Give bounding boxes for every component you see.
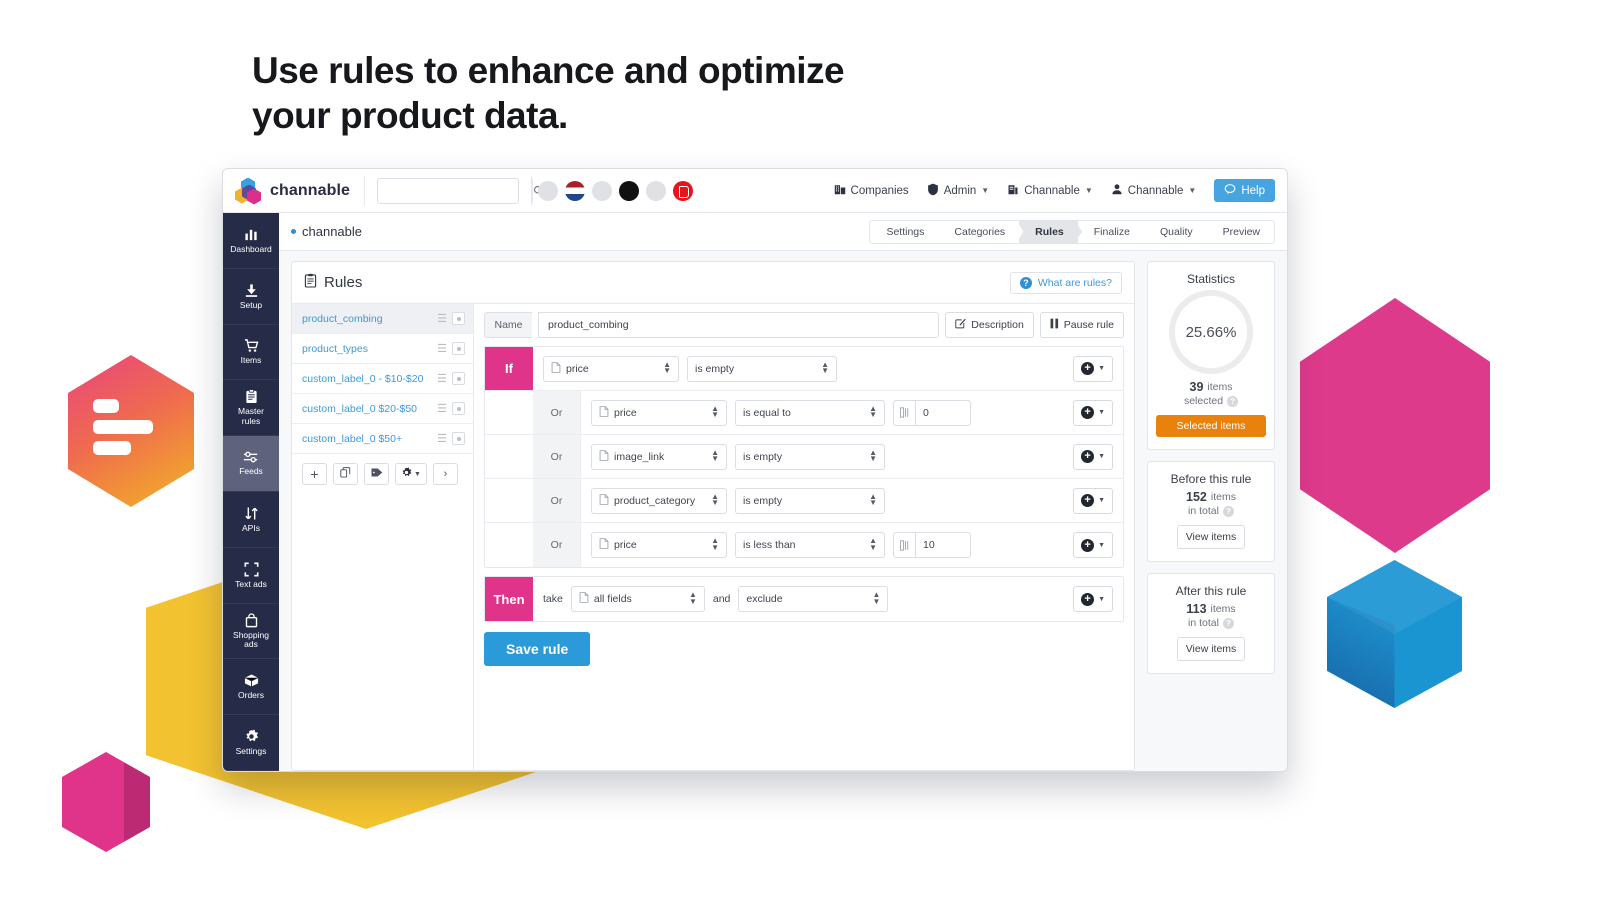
plus-circle-icon: + xyxy=(1081,450,1094,463)
top-navigation-bar: channable Companies xyxy=(223,169,1287,213)
select-arrows-icon: ▲▼ xyxy=(869,450,877,464)
save-rule-button[interactable]: Save rule xyxy=(484,632,590,666)
condition-field-value: price xyxy=(566,363,589,375)
before-rule-total-line: in total ? xyxy=(1156,505,1266,517)
select-arrows-icon: ▲▼ xyxy=(711,538,719,552)
condition-row-or: Or product_category ▲▼ xyxy=(485,479,1123,523)
copy-icon xyxy=(340,467,351,481)
chevron-down-icon: ▼ xyxy=(1098,365,1105,372)
condition-value-input[interactable] xyxy=(915,532,971,558)
feed-name: channable xyxy=(291,224,362,239)
help-tooltip-icon[interactable]: ? xyxy=(1223,506,1234,517)
condition-value-group xyxy=(893,532,971,558)
condition-operator-select[interactable]: is empty ▲▼ xyxy=(735,444,885,470)
after-rule-count: 113 xyxy=(1186,602,1206,616)
global-search[interactable] xyxy=(377,178,519,204)
document-icon xyxy=(579,592,589,606)
step-rules-label: Rules xyxy=(1035,226,1064,238)
selected-word: selected xyxy=(1184,395,1223,407)
rule-name-label: product_types xyxy=(302,343,437,355)
box-icon xyxy=(244,673,259,688)
if-tag: If xyxy=(485,347,533,390)
menu-company-label: Channable xyxy=(1024,185,1080,197)
step-rules[interactable]: Rules xyxy=(1019,221,1078,243)
headline-line-1: Use rules to enhance and optimize xyxy=(252,48,844,93)
page-title: Rules xyxy=(304,273,362,292)
document-icon xyxy=(599,494,609,508)
tag-rule-button[interactable] xyxy=(364,463,389,485)
edit-square-icon xyxy=(955,318,966,332)
condition-operator-select[interactable]: is empty ▲▼ xyxy=(687,356,837,382)
condition-value-group xyxy=(893,400,971,426)
chevron-down-icon: ▼ xyxy=(1098,409,1105,416)
chevron-down-icon: ▼ xyxy=(1085,186,1093,195)
plus-circle-icon: + xyxy=(1081,494,1094,507)
condition-operator-value: is equal to xyxy=(743,407,791,419)
status-dot-grey-2[interactable] xyxy=(592,181,612,201)
description-label: Description xyxy=(971,319,1024,331)
before-view-items-button[interactable]: View items xyxy=(1177,525,1246,549)
chevron-down-icon: ▼ xyxy=(1098,453,1105,460)
arrows-updown-icon xyxy=(244,506,259,521)
selected-word-line: selected ? xyxy=(1156,395,1266,407)
then-action-select[interactable]: exclude ▲▼ xyxy=(738,586,888,612)
document-icon xyxy=(599,538,609,552)
sidebar-item-shopping-ads-label: Shopping ads xyxy=(233,631,269,650)
sidebar-item-feeds[interactable]: Feeds xyxy=(223,436,279,492)
after-rule-total-line: in total ? xyxy=(1156,617,1266,629)
menu-companies-label: Companies xyxy=(851,185,909,197)
list-item[interactable]: custom_label_0 - $10-$20 ☰ xyxy=(292,364,473,394)
then-field-select[interactable]: all fields ▲▼ xyxy=(571,586,705,612)
condition-field-select[interactable]: price ▲▼ xyxy=(591,400,727,426)
conditions-block: If price ▲▼ xyxy=(484,346,1124,568)
chevron-down-icon: ▼ xyxy=(1098,542,1105,549)
step-finalize[interactable]: Finalize xyxy=(1078,221,1144,243)
items-word: items xyxy=(1211,491,1236,503)
condition-row-or: Or image_link ▲▼ xyxy=(485,435,1123,479)
tag-icon xyxy=(371,467,383,481)
take-word: take xyxy=(543,593,563,605)
list-item[interactable]: custom_label_0 $20-$50 ☰ xyxy=(292,394,473,424)
selection-donut-chart: 25.66% xyxy=(1169,290,1253,374)
sidebar-item-settings[interactable]: Settings xyxy=(223,715,279,771)
status-dot-grey-3[interactable] xyxy=(646,181,666,201)
step-preview-label: Preview xyxy=(1223,226,1260,238)
value-type-icon[interactable] xyxy=(893,400,915,426)
after-rule-card: After this rule 113 items in total ? Vie… xyxy=(1147,573,1275,674)
clipboard-icon xyxy=(245,389,258,404)
selected-count: 39 xyxy=(1190,380,1204,394)
help-tooltip-icon[interactable]: ? xyxy=(1223,618,1234,629)
status-dot-icon xyxy=(291,229,296,234)
selected-items-button[interactable]: Selected items xyxy=(1156,415,1266,437)
condition-value-input[interactable] xyxy=(915,400,971,426)
rule-name-label: custom_label_0 $50+ xyxy=(302,433,437,445)
select-arrows-icon: ▲▼ xyxy=(872,592,880,606)
download-icon xyxy=(244,283,259,298)
left-sidebar: Dashboard Setup Items Master rules xyxy=(223,213,279,771)
step-settings[interactable]: Settings xyxy=(870,221,938,243)
rule-editor: Name Description xyxy=(474,304,1134,770)
step-quality-label: Quality xyxy=(1160,226,1193,238)
step-categories[interactable]: Categories xyxy=(938,221,1019,243)
document-icon xyxy=(599,406,609,420)
items-word: items xyxy=(1211,603,1236,615)
or-tag: Or xyxy=(533,391,581,434)
wizard-steps: Settings Categories Rules Finalize Quali… xyxy=(869,220,1275,244)
menu-user-channable[interactable]: Channable ▼ xyxy=(1111,183,1197,198)
status-dot-grey-1[interactable] xyxy=(538,181,558,201)
question-mark-icon: ? xyxy=(1020,277,1032,289)
rule-name-label: product_combing xyxy=(302,313,437,325)
sidebar-item-orders[interactable]: Orders xyxy=(223,659,279,715)
decorative-hexagon-logo-badge xyxy=(68,355,194,507)
content-area: Rules ? What are rules? product_combing xyxy=(279,251,1287,771)
divider xyxy=(364,176,365,206)
plus-icon: + xyxy=(310,467,318,481)
add-condition-button[interactable]: + ▼ xyxy=(1073,356,1113,382)
select-arrows-icon: ▲▼ xyxy=(689,592,697,606)
list-item[interactable]: product_combing ☰ xyxy=(292,304,473,334)
condition-operator-value: is empty xyxy=(695,363,734,375)
statistics-card: Statistics 25.66% 39 items selected ? Se xyxy=(1147,261,1275,450)
channable-logo-icon xyxy=(235,178,261,204)
select-arrows-icon: ▲▼ xyxy=(711,450,719,464)
rule-status-toggle[interactable] xyxy=(452,312,465,325)
document-icon xyxy=(551,362,561,376)
pause-rule-button[interactable]: Pause rule xyxy=(1040,312,1124,338)
selected-count-line: 39 items xyxy=(1156,380,1266,394)
condition-row-if: If price ▲▼ xyxy=(485,347,1123,391)
page-headline: Use rules to enhance and optimize your p… xyxy=(252,48,844,138)
menu-companies[interactable]: Companies xyxy=(834,183,909,198)
menu-company-channable[interactable]: Channable ▼ xyxy=(1007,183,1093,198)
sidebar-item-setup[interactable]: Setup xyxy=(223,269,279,325)
decorative-hexagon-pink-large xyxy=(1300,298,1490,553)
name-label: Name xyxy=(484,312,532,338)
then-tag: Then xyxy=(485,577,533,621)
condition-field-select[interactable]: price ▲▼ xyxy=(543,356,679,382)
drag-handle-icon[interactable]: ☰ xyxy=(437,432,446,445)
clipboard-icon xyxy=(304,273,317,292)
rule-status-toggle[interactable] xyxy=(452,402,465,415)
building-icon xyxy=(834,183,846,198)
step-preview[interactable]: Preview xyxy=(1207,221,1274,243)
sidebar-item-orders-label: Orders xyxy=(238,691,264,700)
rules-card: Rules ? What are rules? product_combing xyxy=(291,261,1135,771)
menu-admin-label: Admin xyxy=(944,185,977,197)
menu-user-label: Channable xyxy=(1128,185,1184,197)
search-input[interactable] xyxy=(378,185,532,197)
decorative-bars xyxy=(93,399,153,462)
sidebar-item-settings-label: Settings xyxy=(236,747,267,756)
condition-operator-value: is less than xyxy=(743,539,796,551)
feed-name-label: channable xyxy=(302,224,362,239)
gear-icon xyxy=(401,467,412,481)
divider xyxy=(531,176,532,206)
before-rule-title: Before this rule xyxy=(1156,472,1266,486)
condition-operator-value: is empty xyxy=(743,495,782,507)
sidebar-item-items-label: Items xyxy=(241,356,262,365)
sidebar-item-feeds-label: Feeds xyxy=(239,467,263,476)
then-block: Then take all fields ▲▼ xyxy=(484,576,1124,622)
or-tag: Or xyxy=(533,523,581,567)
plus-circle-icon: + xyxy=(1081,406,1094,419)
help-tooltip-icon[interactable]: ? xyxy=(1227,396,1238,407)
drag-handle-icon[interactable]: ☰ xyxy=(437,312,446,325)
sidebar-item-text-ads-label: Text ads xyxy=(235,580,267,589)
sidebar-item-master-rules[interactable]: Master rules xyxy=(223,380,279,436)
rule-name-label: custom_label_0 $20-$50 xyxy=(302,403,437,415)
and-word: and xyxy=(713,593,731,605)
drag-handle-icon[interactable]: ☰ xyxy=(437,342,446,355)
rule-status-toggle[interactable] xyxy=(452,432,465,445)
condition-operator-value: is empty xyxy=(743,451,782,463)
status-dot-red[interactable] xyxy=(673,181,693,201)
or-tag: Or xyxy=(533,479,581,522)
in-total-word: in total xyxy=(1188,617,1219,629)
description-button[interactable]: Description xyxy=(945,312,1034,338)
after-rule-count-line: 113 items xyxy=(1156,602,1266,616)
after-rule-title: After this rule xyxy=(1156,584,1266,598)
statistics-column: Statistics 25.66% 39 items selected ? Se xyxy=(1147,261,1275,771)
gear-icon xyxy=(244,729,259,744)
pause-rule-label: Pause rule xyxy=(1064,319,1114,331)
brand-name: channable xyxy=(270,182,350,200)
select-arrows-icon: ▲▼ xyxy=(869,494,877,508)
main-content: channable Settings Categories Rules Fina… xyxy=(279,213,1287,771)
rule-settings-button[interactable]: ▼ xyxy=(395,463,427,485)
sidebar-item-apis[interactable]: APIs xyxy=(223,492,279,548)
or-tag: Or xyxy=(533,435,581,478)
add-condition-button[interactable]: + ▼ xyxy=(1073,532,1113,558)
condition-field-select[interactable]: image_link ▲▼ xyxy=(591,444,727,470)
before-rule-count-line: 152 items xyxy=(1156,490,1266,504)
decorative-cube-blue xyxy=(1327,560,1462,708)
condition-row-or: Or price ▲▼ xyxy=(485,391,1123,435)
selection-percentage: 25.66% xyxy=(1186,324,1237,341)
then-row: Then take all fields ▲▼ xyxy=(485,577,1123,621)
briefcase-icon xyxy=(1007,183,1019,198)
condition-field-value: price xyxy=(614,407,637,419)
rule-status-toggle[interactable] xyxy=(452,342,465,355)
brand-logo[interactable]: channable xyxy=(235,178,364,204)
sidebar-item-items[interactable]: Items xyxy=(223,325,279,381)
condition-row-or: Or price ▲▼ xyxy=(485,523,1123,567)
after-view-items-button[interactable]: View items xyxy=(1177,637,1246,661)
statistics-title: Statistics xyxy=(1156,272,1266,286)
duplicate-rule-button[interactable] xyxy=(333,463,358,485)
select-arrows-icon: ▲▼ xyxy=(869,538,877,552)
then-field-value: all fields xyxy=(594,593,632,605)
sidebar-item-text-ads[interactable]: Text ads xyxy=(223,548,279,604)
rules-body: product_combing ☰ product_types ☰ custom… xyxy=(292,304,1134,770)
chevron-down-icon: ▼ xyxy=(1098,497,1105,504)
rules-card-header: Rules ? What are rules? xyxy=(292,262,1134,304)
flag-netherlands-icon[interactable] xyxy=(565,181,585,201)
in-total-word: in total xyxy=(1188,505,1219,517)
sidebar-item-shopping-ads[interactable]: Shopping ads xyxy=(223,604,279,660)
select-arrows-icon: ▲▼ xyxy=(711,406,719,420)
condition-field-value: image_link xyxy=(614,451,664,463)
items-word: items xyxy=(1207,381,1232,393)
chat-bubble-icon xyxy=(1224,183,1236,198)
rule-status-toggle[interactable] xyxy=(452,372,465,385)
drag-handle-icon[interactable]: ☰ xyxy=(437,402,446,415)
sidebar-item-setup-label: Setup xyxy=(240,301,262,310)
sidebar-item-dashboard[interactable]: Dashboard xyxy=(223,213,279,269)
rule-name-row: Name Description xyxy=(484,312,1124,338)
frame-icon xyxy=(244,562,259,577)
pause-icon xyxy=(1050,318,1059,332)
step-categories-label: Categories xyxy=(954,226,1005,238)
chevron-down-icon: ▼ xyxy=(414,471,421,478)
sidebar-item-apis-label: APIs xyxy=(242,524,260,533)
condition-operator-select[interactable]: is less than ▲▼ xyxy=(735,532,885,558)
condition-field-select[interactable]: product_category ▲▼ xyxy=(591,488,727,514)
step-settings-label: Settings xyxy=(886,226,924,238)
help-label: Help xyxy=(1241,185,1265,197)
step-quality[interactable]: Quality xyxy=(1144,221,1207,243)
chevron-right-icon: › xyxy=(444,468,448,480)
select-arrows-icon: ▲▼ xyxy=(663,362,671,376)
collapse-list-button[interactable]: › xyxy=(433,463,458,485)
condition-field-select[interactable]: price ▲▼ xyxy=(591,532,727,558)
bar-chart-icon xyxy=(244,227,259,242)
status-dot-group xyxy=(538,181,693,201)
feed-header-bar: channable Settings Categories Rules Fina… xyxy=(279,213,1287,251)
value-type-icon[interactable] xyxy=(893,532,915,558)
before-rule-count: 152 xyxy=(1186,490,1207,504)
select-arrows-icon: ▲▼ xyxy=(821,362,829,376)
rule-list-actions: + xyxy=(292,454,473,494)
what-are-rules-button[interactable]: ? What are rules? xyxy=(1010,272,1122,294)
add-condition-button[interactable]: + ▼ xyxy=(1073,444,1113,470)
chevron-down-icon: ▼ xyxy=(1098,596,1105,603)
page-title-label: Rules xyxy=(324,274,362,291)
decorative-hexagon-pink-small xyxy=(62,752,150,852)
what-are-rules-label: What are rules? xyxy=(1038,277,1112,289)
chevron-down-icon: ▼ xyxy=(981,186,989,195)
bag-icon xyxy=(245,613,258,628)
condition-field-value: product_category xyxy=(614,495,695,507)
add-condition-button[interactable]: + ▼ xyxy=(1073,400,1113,426)
sidebar-item-dashboard-label: Dashboard xyxy=(230,245,272,254)
condition-operator-select[interactable]: is empty ▲▼ xyxy=(735,488,885,514)
document-icon xyxy=(599,450,609,464)
plus-circle-icon: + xyxy=(1081,593,1094,606)
list-item[interactable]: product_types ☰ xyxy=(292,334,473,364)
then-action-value: exclude xyxy=(746,593,782,605)
status-dot-black[interactable] xyxy=(619,181,639,201)
rule-list: product_combing ☰ product_types ☰ custom… xyxy=(292,304,474,770)
select-arrows-icon: ▲▼ xyxy=(869,406,877,420)
app-window: channable Companies xyxy=(222,168,1288,772)
rule-name-input[interactable] xyxy=(538,312,939,338)
drag-handle-icon[interactable]: ☰ xyxy=(437,372,446,385)
help-button[interactable]: Help xyxy=(1214,179,1275,202)
plus-circle-icon: + xyxy=(1081,539,1094,552)
top-navigation-menus: Companies Admin ▼ Channable ▼ C xyxy=(834,179,1287,202)
cart-icon xyxy=(244,338,259,353)
menu-admin[interactable]: Admin ▼ xyxy=(927,183,990,199)
headline-line-2: your product data. xyxy=(252,93,844,138)
condition-field-value: price xyxy=(614,539,637,551)
add-rule-button[interactable]: + xyxy=(302,463,327,485)
chevron-down-icon: ▼ xyxy=(1188,186,1196,195)
sliders-icon xyxy=(243,450,259,464)
rule-name-label: custom_label_0 - $10-$20 xyxy=(302,373,437,385)
step-finalize-label: Finalize xyxy=(1094,226,1130,238)
add-action-button[interactable]: + ▼ xyxy=(1073,586,1113,612)
select-arrows-icon: ▲▼ xyxy=(711,494,719,508)
add-condition-button[interactable]: + ▼ xyxy=(1073,488,1113,514)
plus-circle-icon: + xyxy=(1081,362,1094,375)
list-item[interactable]: custom_label_0 $50+ ☰ xyxy=(292,424,473,454)
user-icon xyxy=(1111,183,1123,198)
before-rule-card: Before this rule 152 items in total ? Vi… xyxy=(1147,461,1275,562)
condition-operator-select[interactable]: is equal to ▲▼ xyxy=(735,400,885,426)
shield-icon xyxy=(927,183,939,199)
sidebar-item-master-rules-label: Master rules xyxy=(238,407,264,426)
